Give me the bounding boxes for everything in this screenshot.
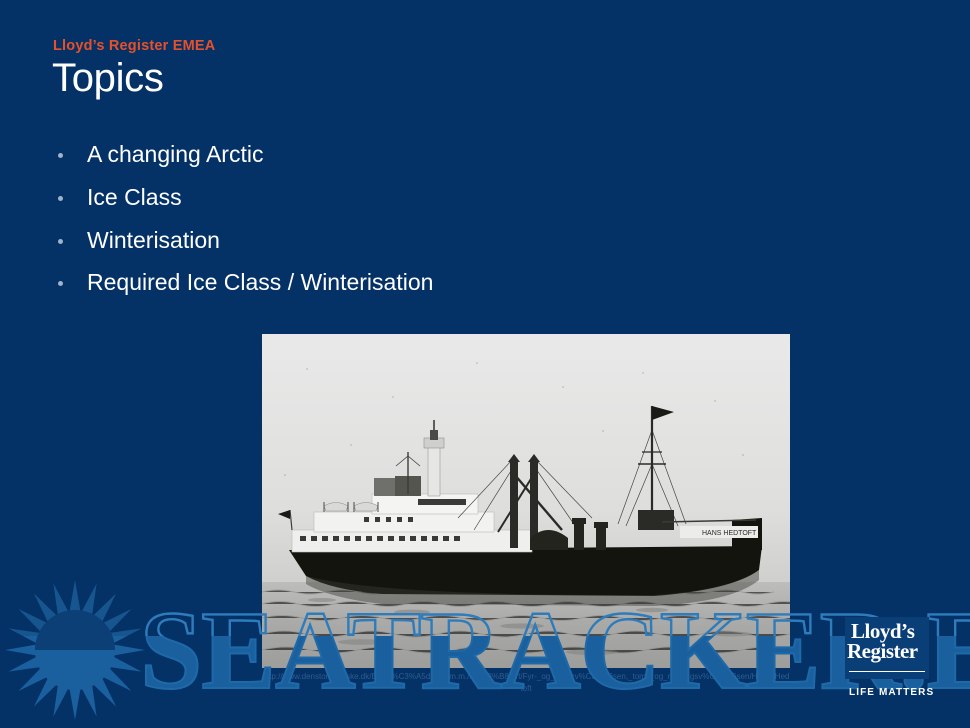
- list-item-label: Ice Class: [87, 184, 182, 210]
- ship-photo-artwork: HANS HEDTOFT: [262, 334, 790, 668]
- logo-divider: [849, 671, 925, 672]
- list-item: Required Ice Class / Winterisation: [52, 268, 612, 297]
- photo-credit-caption: http://www.denstoredanske.dk/Bil,_b%C3%A…: [262, 671, 790, 694]
- topics-bullet-list: A changing Arctic Ice Class Winterisatio…: [52, 140, 612, 311]
- list-item-label: Winterisation: [87, 227, 220, 253]
- presentation-slide: Lloyd’s Register EMEA Topics A changing …: [0, 0, 970, 728]
- bullet-dot-icon: [58, 281, 63, 286]
- sunburst-icon: [5, 580, 145, 720]
- list-item-label: A changing Arctic: [87, 141, 263, 167]
- svg-text:HANS HEDTOFT: HANS HEDTOFT: [702, 530, 757, 537]
- lloyds-register-logo: Lloyd’s Register LIFE MATTERS: [845, 617, 945, 707]
- list-item: Winterisation: [52, 226, 612, 255]
- list-item-label: Required Ice Class / Winterisation: [87, 269, 433, 295]
- page-title: Topics: [52, 56, 164, 100]
- bullet-dot-icon: [58, 196, 63, 201]
- logo-line-2: Register: [847, 641, 918, 662]
- bullet-dot-icon: [58, 239, 63, 244]
- list-item: Ice Class: [52, 183, 612, 212]
- bullet-dot-icon: [58, 153, 63, 158]
- list-item: A changing Arctic: [52, 140, 612, 169]
- ship-photograph: HANS HEDTOFT: [262, 334, 790, 668]
- logo-tagline: LIFE MATTERS: [849, 687, 934, 698]
- slide-eyebrow: Lloyd’s Register EMEA: [53, 38, 215, 54]
